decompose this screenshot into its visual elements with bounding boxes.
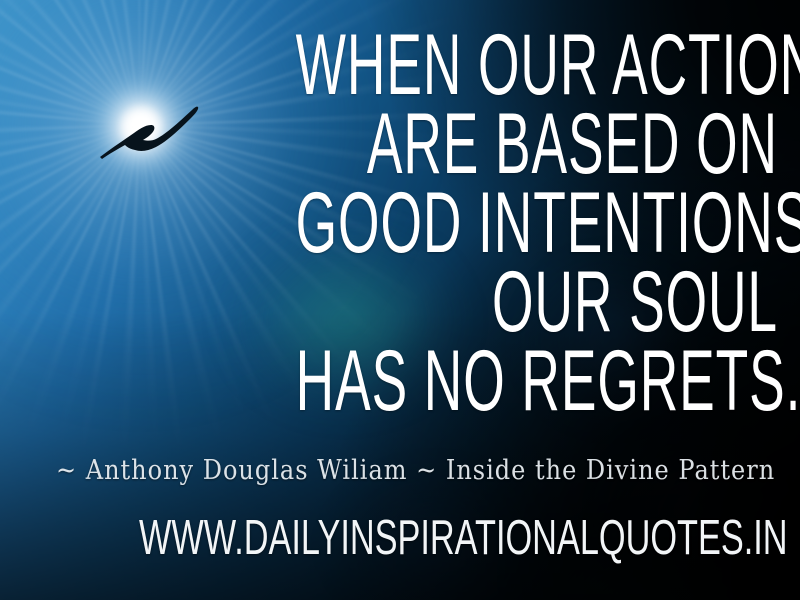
- quote-poster: WHEN OUR ACTIONS ARE BASED ON GOOD INTEN…: [0, 0, 800, 600]
- quote-text: WHEN OUR ACTIONS ARE BASED ON GOOD INTEN…: [0, 26, 778, 421]
- quote-line-5: HAS NO REGRETS.: [296, 342, 778, 421]
- quote-line-1: WHEN OUR ACTIONS: [296, 26, 778, 105]
- quote-line-3: GOOD INTENTIONS: [296, 184, 778, 263]
- site-url: WWW.DAILYINSPIRATIONALQUOTES.IN: [0, 510, 800, 566]
- quote-attribution: ~ Anthony Douglas Wiliam ~ Inside the Di…: [56, 454, 756, 485]
- site-url-label: WWW.DAILYINSPIRATIONALQUOTES.IN: [139, 510, 788, 566]
- quote-line-2: ARE BASED ON: [296, 105, 778, 184]
- quote-line-4: OUR SOUL: [296, 263, 778, 342]
